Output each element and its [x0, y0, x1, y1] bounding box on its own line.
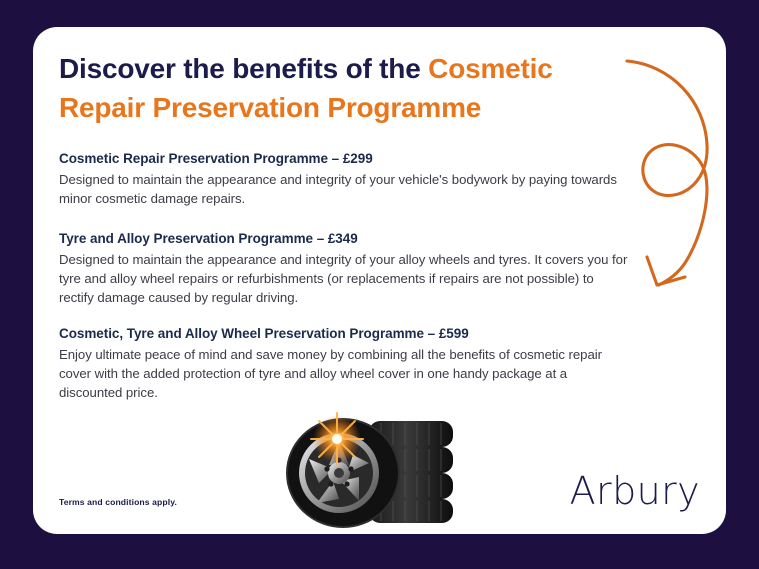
- programme-section: Cosmetic Repair Preservation Programme –…: [59, 150, 631, 208]
- terms-and-conditions-text: Terms and conditions apply.: [59, 497, 177, 507]
- programme-title: Cosmetic Repair Preservation Programme –…: [59, 150, 631, 168]
- page-title-plain: Discover the benefits of the: [59, 53, 428, 84]
- curved-loop-arrow-icon: [619, 49, 726, 294]
- programme-section: Tyre and Alloy Preservation Programme – …: [59, 230, 631, 307]
- orange-sparkle-icon: [311, 413, 363, 465]
- content-card: Discover the benefits of the Cosmetic Re…: [33, 27, 726, 534]
- promotional-card-screen: Discover the benefits of the Cosmetic Re…: [0, 0, 759, 569]
- arbury-logo: Arbury: [570, 469, 700, 513]
- programme-title: Tyre and Alloy Preservation Programme – …: [59, 230, 631, 248]
- page-title-accent-1: Cosmetic: [428, 53, 552, 84]
- programme-description: Designed to maintain the appearance and …: [59, 170, 631, 208]
- page-title: Discover the benefits of the Cosmetic Re…: [59, 49, 619, 127]
- programme-title: Cosmetic, Tyre and Alloy Wheel Preservat…: [59, 325, 631, 343]
- programme-description: Enjoy ultimate peace of mind and save mo…: [59, 345, 631, 402]
- programme-description: Designed to maintain the appearance and …: [59, 250, 631, 307]
- tyre-stack-alloy-wheel-image: [277, 407, 477, 531]
- programme-section: Cosmetic, Tyre and Alloy Wheel Preservat…: [59, 325, 631, 402]
- page-title-accent-2: Repair Preservation Programme: [59, 92, 481, 123]
